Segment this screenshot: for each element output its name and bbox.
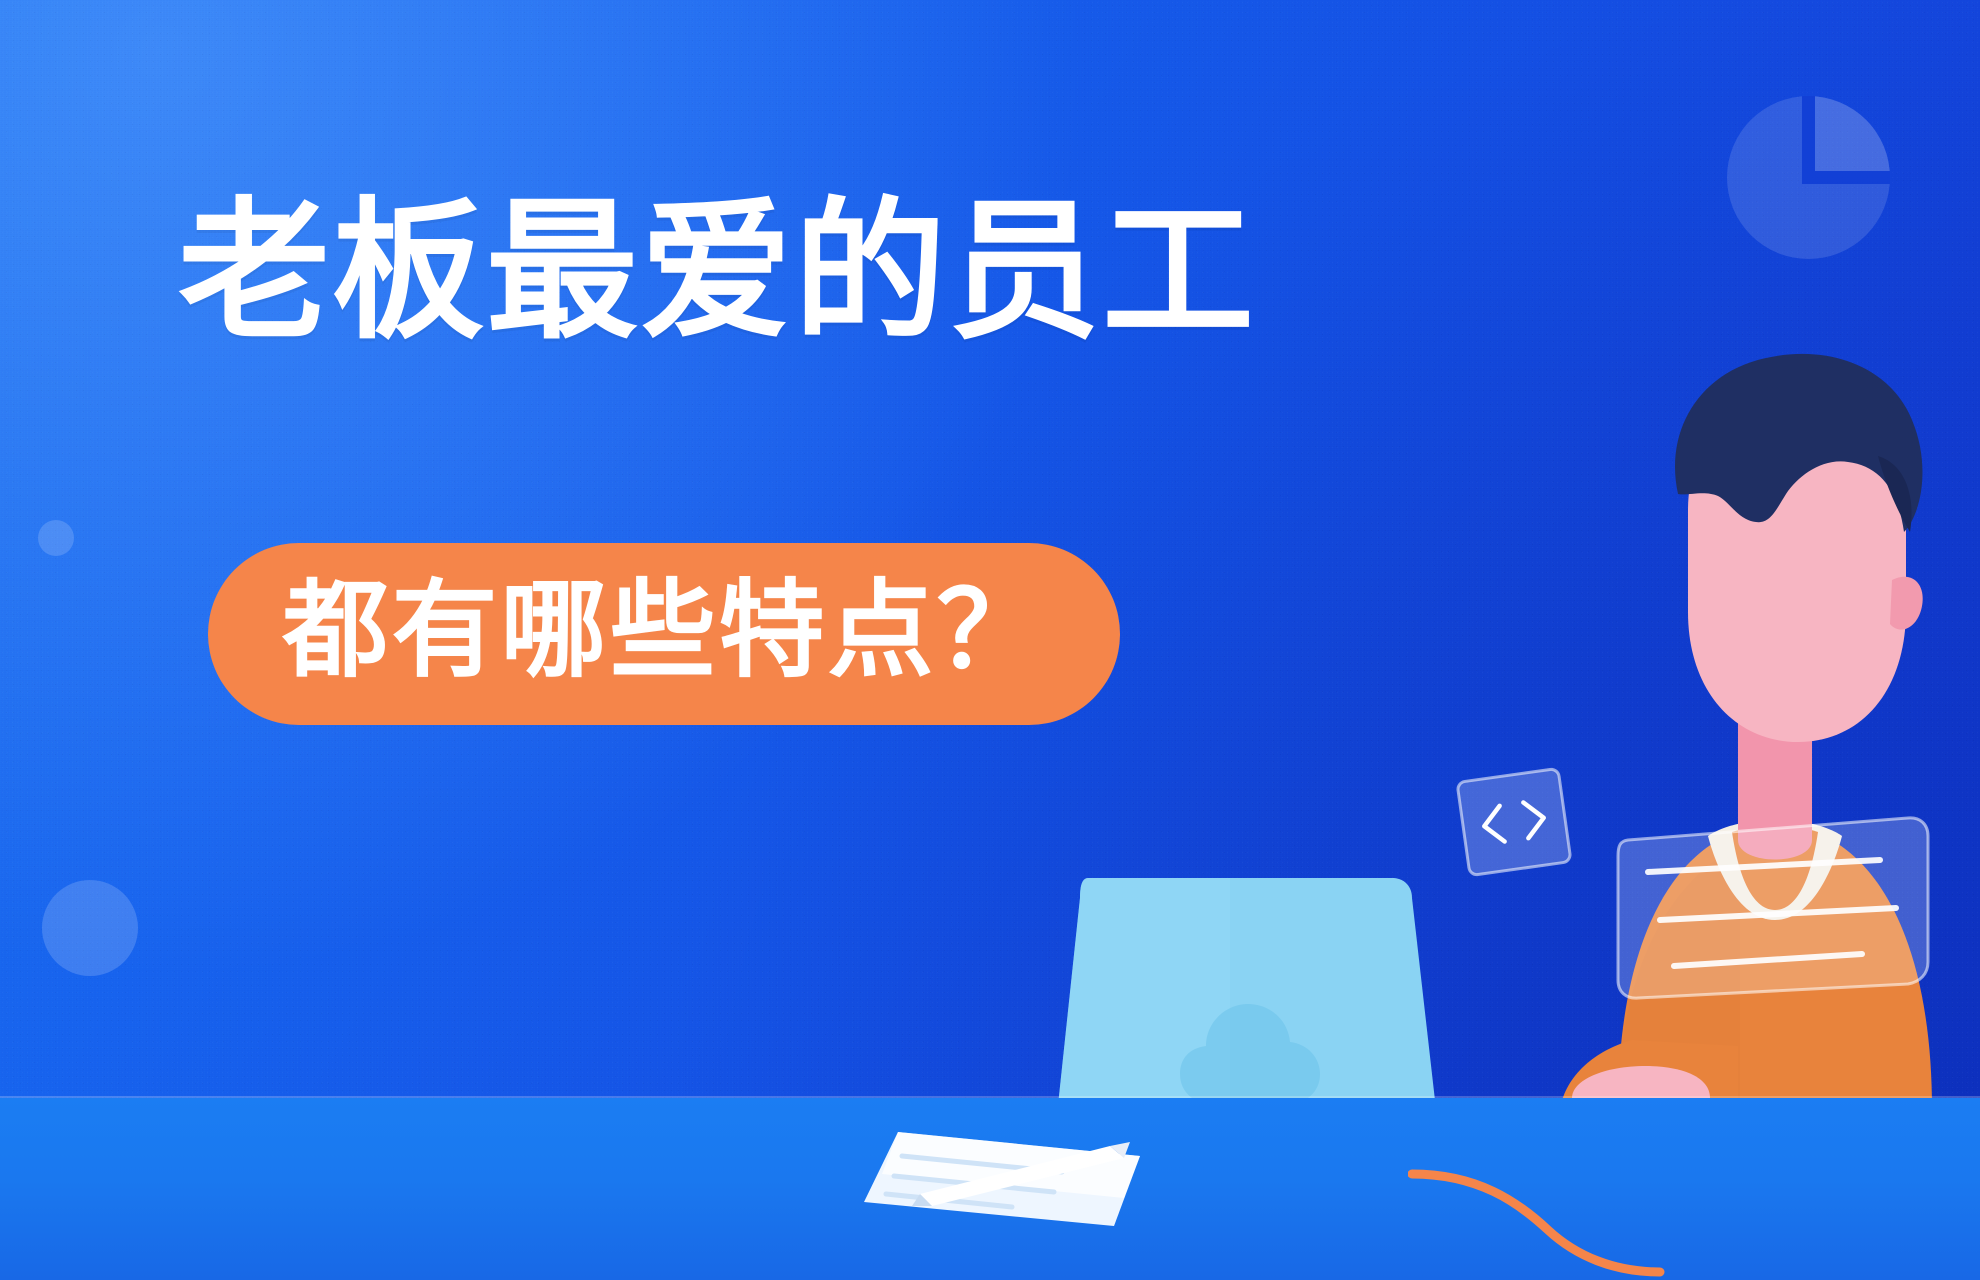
page-title: 老板最爱的员工 bbox=[178, 196, 1256, 348]
subtitle-text: 都有哪些特点？ bbox=[283, 578, 1046, 684]
poster-canvas: 老板最爱的员工 都有哪些特点？ bbox=[0, 0, 1980, 1280]
large-dot-decoration bbox=[42, 880, 138, 976]
code-card-icon bbox=[1454, 765, 1575, 879]
cable-illustration bbox=[1408, 1168, 1668, 1280]
pie-chart-icon bbox=[1727, 96, 1890, 259]
small-dot-decoration bbox=[38, 520, 74, 556]
document-card-icon bbox=[1608, 812, 1938, 1002]
subtitle-pill: 都有哪些特点？ bbox=[208, 543, 1120, 725]
paper-with-pen bbox=[862, 1130, 1162, 1240]
